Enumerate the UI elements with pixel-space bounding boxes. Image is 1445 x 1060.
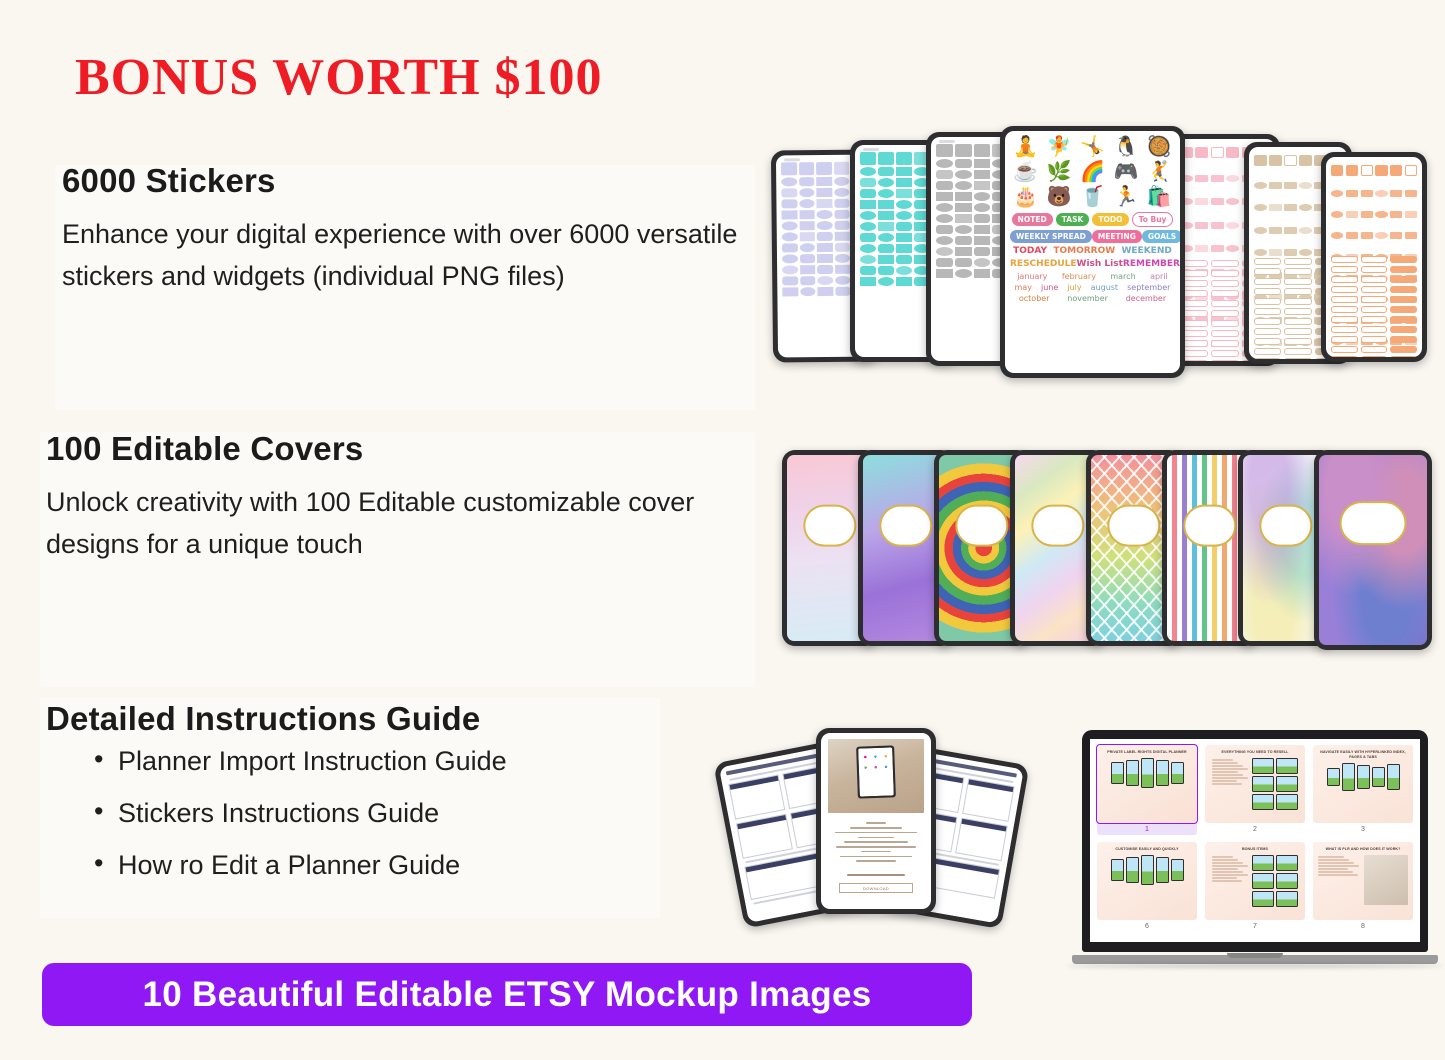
shape-sticker	[955, 258, 972, 267]
icon-sticker	[1195, 175, 1208, 182]
icon-sticker	[1195, 245, 1208, 252]
mockup-slide-cell[interactable]: CUSTOMISE EASILY AND QUICKLY6	[1097, 842, 1197, 930]
emoji-sticker: 🛍️	[1144, 187, 1175, 208]
month-sticker: september	[1127, 283, 1170, 292]
shape-sticker	[896, 152, 912, 165]
icon-sticker	[1405, 165, 1417, 176]
icon-sticker	[1375, 190, 1387, 197]
cover-name-label	[1031, 504, 1084, 547]
shape-sticker	[817, 221, 833, 230]
banner-sticker	[1361, 356, 1388, 357]
shape-sticker	[799, 243, 815, 252]
shape-sticker	[818, 287, 834, 296]
icon-sticker	[1284, 155, 1297, 166]
word-sticker: TODAY	[1013, 246, 1047, 256]
shape-sticker	[936, 144, 953, 157]
section-guide-title: Detailed Instructions Guide	[46, 700, 706, 738]
banner-sticker	[1211, 310, 1239, 317]
banner-sticker	[1254, 268, 1281, 275]
mockup-slide-cell[interactable]: PRIVATE LABEL RIGHTS DIGITAL PLANNER1	[1097, 745, 1197, 835]
icon-sticker	[1361, 190, 1373, 197]
icon-sticker	[1195, 198, 1208, 205]
banner-sticker	[1361, 326, 1388, 333]
purple-alcohol-ink-marble-cover	[1314, 450, 1432, 650]
mockup-slide-cell[interactable]: EVERYTHING YOU NEED TO RESELL2	[1205, 745, 1305, 835]
shape-sticker	[781, 199, 797, 208]
shape-sticker	[860, 178, 876, 187]
banner-sticker	[1211, 340, 1239, 347]
icon-sticker	[1226, 175, 1239, 182]
shape-sticker	[781, 188, 797, 197]
banner-sticker	[1361, 316, 1388, 323]
etsy-mockup-banner: 10 Beautiful Editable ETSY Mockup Images	[42, 963, 972, 1026]
shape-sticker	[799, 210, 815, 219]
banner-sticker	[1361, 276, 1388, 283]
section-covers-title: 100 Editable Covers	[46, 430, 766, 468]
icon-sticker	[1375, 232, 1387, 239]
shape-sticker	[974, 181, 991, 190]
banner-sticker	[1331, 256, 1358, 263]
banner-sticker	[1390, 286, 1417, 293]
icon-sticker	[1269, 249, 1282, 256]
banner-sticker	[1390, 306, 1417, 313]
banner-sticker	[1284, 288, 1311, 295]
icon-sticker	[1284, 182, 1297, 189]
cover-name-label	[955, 504, 1008, 547]
etsy-mockup-banner-label: 10 Beautiful Editable ETSY Mockup Images	[142, 975, 871, 1015]
banner-sticker	[1211, 290, 1239, 297]
shape-sticker	[878, 178, 894, 187]
icon-sticker	[1269, 182, 1282, 189]
section-covers: 100 Editable Covers Unlock creativity wi…	[46, 430, 766, 566]
shape-sticker	[782, 265, 798, 274]
shape-sticker	[860, 189, 876, 198]
icon-sticker	[1405, 232, 1417, 239]
icon-sticker	[1254, 204, 1267, 211]
shape-sticker	[936, 269, 953, 278]
shape-sticker	[817, 232, 833, 241]
shape-sticker	[799, 162, 815, 175]
icon-sticker	[1211, 198, 1224, 205]
shape-sticker	[974, 214, 991, 223]
banner-sticker	[1361, 296, 1388, 303]
shape-sticker	[835, 243, 851, 252]
banner-sticker	[1361, 346, 1388, 353]
shape-sticker	[974, 236, 991, 245]
month-sticker: march	[1110, 272, 1135, 281]
icon-sticker	[1299, 227, 1312, 234]
cover-name-label	[1259, 504, 1312, 547]
shape-sticker	[799, 232, 815, 241]
month-sticker-row: januaryfebruarymarchapril	[1010, 272, 1175, 281]
list-item: Planner Import Instruction Guide	[94, 748, 706, 775]
welcome-download-tablet: DOWNLOAD	[816, 728, 936, 914]
banner-sticker	[1254, 288, 1281, 295]
icon-sticker	[1226, 198, 1239, 205]
banner-sticker	[1361, 336, 1388, 343]
banner-sticker	[1390, 336, 1417, 343]
icon-sticker	[1390, 211, 1402, 218]
shape-sticker	[834, 188, 850, 197]
cover-name-label	[879, 504, 932, 547]
mockup-slide-thumbnail[interactable]: EVERYTHING YOU NEED TO RESELL	[1205, 745, 1305, 823]
shape-sticker	[878, 200, 894, 209]
mockup-slide-thumbnail[interactable]: BONUS ITEMS	[1205, 842, 1305, 920]
shape-sticker	[816, 177, 832, 186]
shape-sticker	[955, 192, 972, 201]
shape-sticker	[974, 225, 991, 234]
banner-sticker	[1254, 308, 1281, 315]
icon-sticker	[1254, 155, 1267, 166]
list-item: How ro Edit a Planner Guide	[94, 852, 706, 879]
banner-sticker	[1331, 306, 1358, 313]
welcome-photo	[828, 739, 924, 813]
banner-sticker	[1284, 308, 1311, 315]
month-sticker: november	[1067, 294, 1108, 303]
mockup-slide-thumbnail[interactable]: CUSTOMISE EASILY AND QUICKLY	[1097, 842, 1197, 920]
mockup-slide-cell[interactable]: NAVIGATE EASILY WITH HYPERLINKED INDEX, …	[1313, 745, 1413, 835]
shape-sticker	[834, 177, 850, 186]
icon-sticker	[1390, 232, 1402, 239]
icon-sticker	[1254, 249, 1267, 256]
shape-sticker	[860, 266, 876, 275]
shape-sticker	[955, 214, 972, 223]
word-sticker: TOMORROW	[1053, 246, 1115, 256]
mockup-slide-thumbnail[interactable]: NAVIGATE EASILY WITH HYPERLINKED INDEX, …	[1313, 745, 1413, 823]
shape-sticker	[955, 269, 972, 278]
shape-sticker	[955, 247, 972, 256]
section-stickers: 6000 Stickers Enhance your digital exper…	[62, 162, 762, 298]
shape-sticker	[816, 188, 832, 197]
shape-sticker	[878, 211, 894, 220]
banner-sticker	[1211, 330, 1239, 337]
shape-sticker	[896, 211, 912, 220]
word-sticker: Wish List	[1077, 259, 1123, 269]
icon-sticker	[1346, 211, 1358, 218]
shape-sticker	[817, 243, 833, 252]
emoji-sticker: 🤸	[1077, 137, 1108, 158]
banner-sticker	[1211, 320, 1239, 327]
label-sticker: NOTED	[1012, 213, 1053, 226]
icon-sticker	[1390, 190, 1402, 197]
emoji-sticker: 🥤	[1077, 187, 1108, 208]
shape-sticker	[936, 203, 953, 212]
banner-sticker	[1284, 358, 1311, 359]
banner-sticker	[1390, 346, 1417, 353]
mockup-slide-title: PRIVATE LABEL RIGHTS DIGITAL PLANNER	[1101, 750, 1193, 755]
icon-sticker	[1226, 147, 1239, 158]
shape-sticker	[878, 152, 894, 165]
banner-sticker	[1254, 338, 1281, 345]
banner-sticker	[1211, 360, 1239, 361]
laptop-shadow	[1066, 964, 1444, 968]
banner-sticker	[1331, 356, 1358, 357]
shape-sticker	[800, 287, 816, 296]
banner-sticker	[1211, 270, 1239, 277]
emoji-sticker: 🧘	[1010, 137, 1041, 158]
month-sticker: may	[1015, 283, 1032, 292]
list-item: Stickers Instructions Guide	[94, 800, 706, 827]
mockup-slide-cell[interactable]: WHAT IS PLR AND HOW DOES IT WORK?8	[1313, 842, 1413, 930]
shape-sticker	[878, 222, 894, 231]
shape-sticker	[800, 276, 816, 285]
shape-sticker	[936, 225, 953, 234]
shape-sticker	[835, 287, 851, 296]
shape-sticker	[955, 159, 972, 168]
sticker-sheets-mockup: 🧘🧚🤸🐧🥘 ☕🌿🌈🎮🤾 🎂🐻🥤🏃🛍️ NOTEDTASKTODOTo Buy W…	[772, 126, 1437, 388]
shape-sticker	[834, 199, 850, 208]
shape-sticker	[860, 244, 876, 253]
banner-sticker	[1331, 296, 1358, 303]
mockup-slide-number: 3	[1361, 826, 1365, 833]
shape-sticker	[878, 266, 894, 275]
shape-sticker	[782, 254, 798, 263]
icon-sticker	[1211, 147, 1224, 158]
mockup-slide-title: EVERYTHING YOU NEED TO RESELL	[1209, 750, 1301, 755]
shape-sticker	[974, 258, 991, 267]
icon-sticker	[1269, 155, 1282, 166]
emoji-sticker: 🎮	[1110, 162, 1141, 183]
shape-sticker	[799, 177, 815, 186]
shape-sticker	[974, 170, 991, 179]
emoji-sticker: 🐧	[1110, 137, 1141, 158]
icon-sticker	[1346, 190, 1358, 197]
etsy-mockup-laptop: PRIVATE LABEL RIGHTS DIGITAL PLANNER1EVE…	[1072, 730, 1438, 980]
emoji-sticker-row: 🧘🧚🤸🐧🥘	[1010, 137, 1175, 158]
shape-sticker	[974, 247, 991, 256]
shape-sticker	[860, 222, 876, 231]
banner-sticker	[1254, 318, 1281, 325]
mockup-slide-number: 8	[1361, 923, 1365, 930]
banner-sticker	[1331, 316, 1358, 323]
month-sticker: june	[1041, 283, 1058, 292]
shape-sticker	[782, 276, 798, 285]
banner-sticker	[1331, 326, 1358, 333]
mockup-slide-cell[interactable]: BONUS ITEMS7	[1205, 842, 1305, 930]
shape-sticker	[817, 276, 833, 285]
shape-sticker	[799, 199, 815, 208]
banner-sticker	[1331, 346, 1358, 353]
instructions-guide-mockup: DOWNLOAD	[728, 728, 978, 938]
shape-sticker	[817, 254, 833, 263]
icon-sticker	[1375, 211, 1387, 218]
mockup-slide-title: BONUS ITEMS	[1209, 847, 1301, 852]
month-sticker: december	[1126, 294, 1166, 303]
month-sticker: april	[1150, 272, 1168, 281]
month-sticker-row: octobernovemberdecember	[1010, 294, 1175, 303]
icon-sticker	[1284, 249, 1297, 256]
shape-sticker	[896, 277, 912, 286]
banner-sticker	[1284, 318, 1311, 325]
label-sticker-row: NOTEDTASKTODOTo Buy	[1010, 212, 1175, 227]
shape-sticker	[936, 258, 953, 267]
mockup-slide-number: 6	[1145, 923, 1149, 930]
icon-sticker	[1226, 245, 1239, 252]
banner-sticker	[1284, 328, 1311, 335]
shape-sticker	[974, 269, 991, 278]
shape-sticker	[896, 266, 912, 275]
month-sticker: january	[1017, 272, 1047, 281]
shape-sticker	[860, 200, 876, 209]
month-sticker: october	[1019, 294, 1050, 303]
icon-sticker	[1254, 227, 1267, 234]
icon-sticker	[1211, 175, 1224, 182]
emoji-sticker-row: 🎂🐻🥤🏃🛍️	[1010, 187, 1175, 208]
icon-sticker	[1299, 204, 1312, 211]
shape-sticker	[896, 189, 912, 198]
guide-bullet-list: Planner Import Instruction Guide Sticker…	[94, 748, 706, 879]
banner-sticker	[1211, 280, 1239, 287]
banner-sticker	[1284, 348, 1311, 355]
shape-sticker	[834, 162, 850, 175]
month-sticker: july	[1067, 283, 1081, 292]
mini-tablet-icon	[856, 746, 896, 799]
hero-sticker-sheet-tablet: 🧘🧚🤸🐧🥘 ☕🌿🌈🎮🤾 🎂🐻🥤🏃🛍️ NOTEDTASKTODOTo Buy W…	[1000, 126, 1185, 378]
shape-sticker	[955, 203, 972, 212]
icon-sticker	[1331, 165, 1343, 176]
label-sticker: GOALS	[1142, 230, 1180, 243]
shape-sticker	[860, 233, 876, 242]
shape-sticker	[835, 265, 851, 274]
banner-sticker	[1254, 278, 1281, 285]
icon-sticker	[1331, 232, 1343, 239]
shape-sticker	[878, 189, 894, 198]
shape-sticker	[878, 277, 894, 286]
banner-sticker	[1211, 260, 1239, 267]
icon-sticker	[1299, 182, 1312, 189]
icon-sticker	[1390, 165, 1402, 176]
banner-sticker	[1284, 338, 1311, 345]
word-sticker: REMEMBER!	[1123, 259, 1180, 269]
shape-sticker	[782, 243, 798, 252]
emoji-sticker: 🌿	[1043, 162, 1074, 183]
icon-sticker	[1284, 204, 1297, 211]
banner-sticker	[1390, 356, 1417, 357]
shape-sticker	[878, 233, 894, 242]
page-title: BONUS WORTH $100	[75, 48, 603, 107]
emoji-sticker-row: ☕🌿🌈🎮🤾	[1010, 162, 1175, 183]
banner-sticker	[1390, 316, 1417, 323]
shape-sticker	[955, 225, 972, 234]
shape-sticker	[936, 159, 953, 168]
shape-sticker	[799, 221, 815, 230]
banner-sticker	[1254, 358, 1281, 359]
shape-sticker	[878, 244, 894, 253]
mockup-slide-thumbnail[interactable]: PRIVATE LABEL RIGHTS DIGITAL PLANNER	[1097, 745, 1197, 823]
mockup-slide-title: CUSTOMISE EASILY AND QUICKLY	[1101, 847, 1193, 852]
label-sticker-row: WEEKLY SPREADMEETINGGOALS	[1010, 230, 1175, 243]
shape-sticker	[955, 236, 972, 245]
banner-sticker-stack	[1331, 256, 1417, 351]
banner-sticker	[1254, 258, 1281, 265]
word-sticker-row: TODAYTOMORROWWEEKEND	[1010, 246, 1175, 256]
shape-sticker	[896, 233, 912, 242]
laptop-screen: PRIVATE LABEL RIGHTS DIGITAL PLANNER1EVE…	[1090, 739, 1420, 942]
icon-sticker	[1361, 165, 1373, 176]
welcome-text-block	[821, 813, 931, 862]
banner-sticker	[1361, 286, 1388, 293]
shape-sticker	[896, 255, 912, 264]
icon-sticker	[1195, 222, 1208, 229]
banner-sticker	[1284, 298, 1311, 305]
section-guide: Detailed Instructions Guide Planner Impo…	[46, 700, 706, 904]
icon-sticker	[1254, 182, 1267, 189]
cover-name-label	[1340, 502, 1407, 546]
mockup-slide-number: 1	[1145, 826, 1149, 833]
shape-sticker	[974, 159, 991, 168]
shape-sticker	[860, 255, 876, 264]
icon-sticker	[1405, 211, 1417, 218]
shape-sticker	[860, 167, 876, 176]
shape-sticker	[782, 287, 798, 296]
icon-sticker	[1346, 232, 1358, 239]
icon-sticker	[1331, 211, 1343, 218]
icon-sticker	[1361, 232, 1373, 239]
shape-sticker	[834, 221, 850, 230]
shape-sticker	[782, 232, 798, 241]
label-sticker: TASK	[1056, 213, 1090, 226]
month-sticker: february	[1062, 272, 1096, 281]
emoji-sticker: 🌈	[1077, 162, 1108, 183]
banner-sticker	[1254, 298, 1281, 305]
icon-sticker	[1269, 227, 1282, 234]
banner-sticker	[1284, 278, 1311, 285]
editable-covers-mockup	[782, 450, 1437, 650]
banner-sticker	[1390, 326, 1417, 333]
shape-sticker	[896, 222, 912, 231]
shape-sticker	[781, 162, 797, 175]
shape-sticker	[878, 167, 894, 176]
download-button[interactable]: DOWNLOAD	[839, 883, 913, 893]
emoji-sticker: 🧚	[1043, 137, 1074, 158]
shape-sticker	[800, 254, 816, 263]
icon-sticker	[1226, 222, 1239, 229]
shape-sticker	[974, 192, 991, 201]
banner-sticker	[1254, 328, 1281, 335]
icon-sticker	[1299, 155, 1312, 166]
shape-sticker	[835, 276, 851, 285]
banner-sticker	[1284, 258, 1311, 265]
mockup-slide-grid: PRIVATE LABEL RIGHTS DIGITAL PLANNER1EVE…	[1090, 739, 1420, 936]
tablet-camera-icon	[939, 140, 955, 143]
shape-sticker	[781, 177, 797, 186]
banner-sticker	[1390, 296, 1417, 303]
icon-sticker	[1346, 165, 1358, 176]
icon-sticker	[1299, 249, 1312, 256]
banner-sticker	[1211, 300, 1239, 307]
icon-sticker	[1405, 190, 1417, 197]
banner-sticker	[1211, 350, 1239, 357]
shape-sticker	[936, 236, 953, 245]
shape-sticker	[800, 265, 816, 274]
mockup-slide-title: NAVIGATE EASILY WITH HYPERLINKED INDEX, …	[1317, 750, 1409, 760]
icon-sticker	[1211, 222, 1224, 229]
shape-sticker	[817, 210, 833, 219]
laptop-notch	[1227, 953, 1283, 958]
emoji-sticker: 🏃	[1110, 187, 1141, 208]
label-sticker: MEETING	[1092, 230, 1142, 243]
shape-sticker	[896, 244, 912, 253]
banner-sticker	[1284, 268, 1311, 275]
emoji-sticker: ☕	[1010, 162, 1041, 183]
mockup-slide-thumbnail[interactable]: WHAT IS PLR AND HOW DOES IT WORK?	[1313, 842, 1413, 920]
icon-sticker	[1211, 245, 1224, 252]
banner-sticker	[1361, 306, 1388, 313]
cover-name-label	[1107, 504, 1160, 547]
shape-sticker	[816, 162, 832, 175]
word-sticker: WEEKEND	[1121, 246, 1171, 256]
shape-sticker	[860, 277, 876, 286]
